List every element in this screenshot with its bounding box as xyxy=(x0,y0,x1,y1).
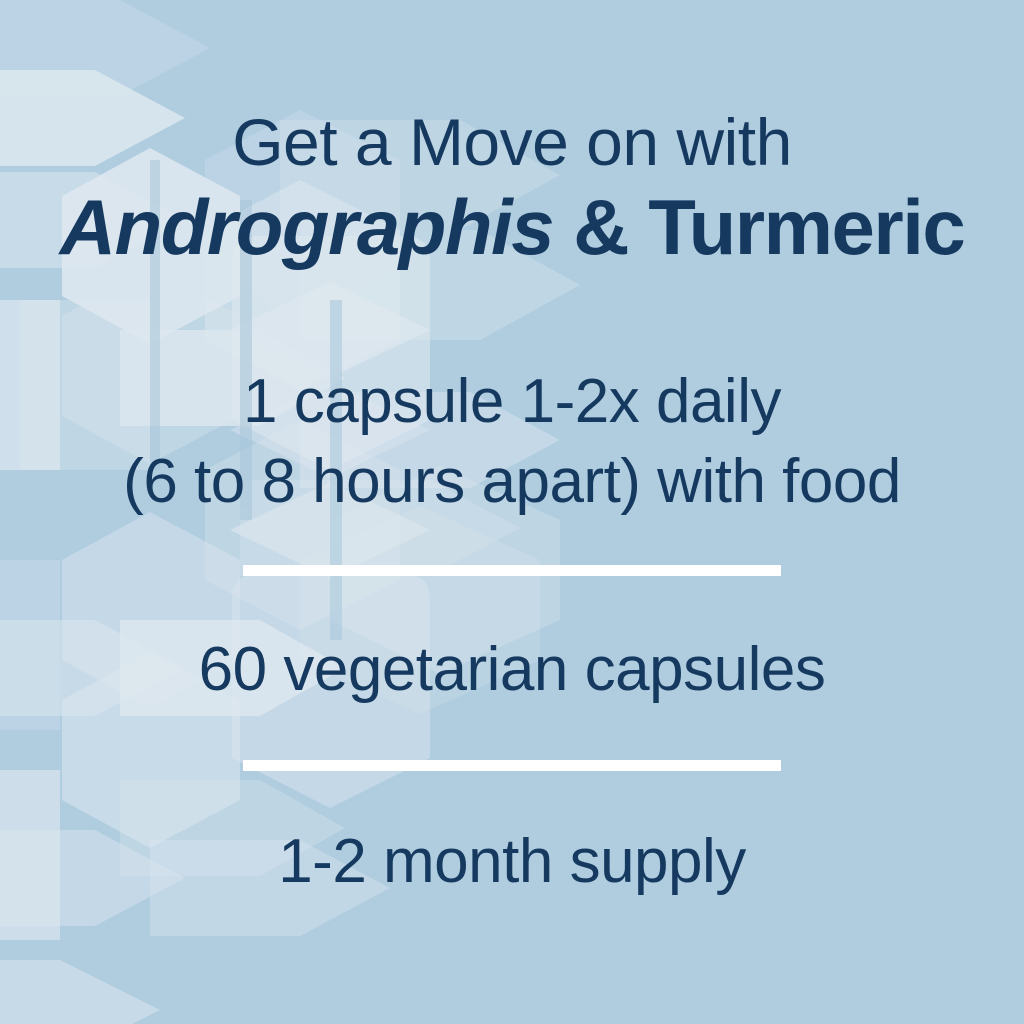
dosage-line-1: 1 capsule 1-2x daily xyxy=(0,362,1024,442)
divider-top xyxy=(243,565,781,576)
dosage-line-2: (6 to 8 hours apart) with food xyxy=(0,442,1024,522)
dosage-instructions: 1 capsule 1-2x daily (6 to 8 hours apart… xyxy=(0,362,1024,522)
product-info-panel: Get a Move on with Andrographis & Turmer… xyxy=(0,0,1024,1024)
supply-duration-label: 1-2 month supply xyxy=(0,822,1024,902)
text-content: Get a Move on with Andrographis & Turmer… xyxy=(0,0,1024,1024)
headline-line-2: Andrographis & Turmeric xyxy=(0,184,1024,270)
headline-emphasis: Andrographis xyxy=(60,183,553,271)
capsule-count-label: 60 vegetarian capsules xyxy=(0,630,1024,710)
headline-rest: & Turmeric xyxy=(553,183,964,271)
headline-line-1: Get a Move on with xyxy=(0,106,1024,178)
divider-bottom xyxy=(243,760,781,771)
